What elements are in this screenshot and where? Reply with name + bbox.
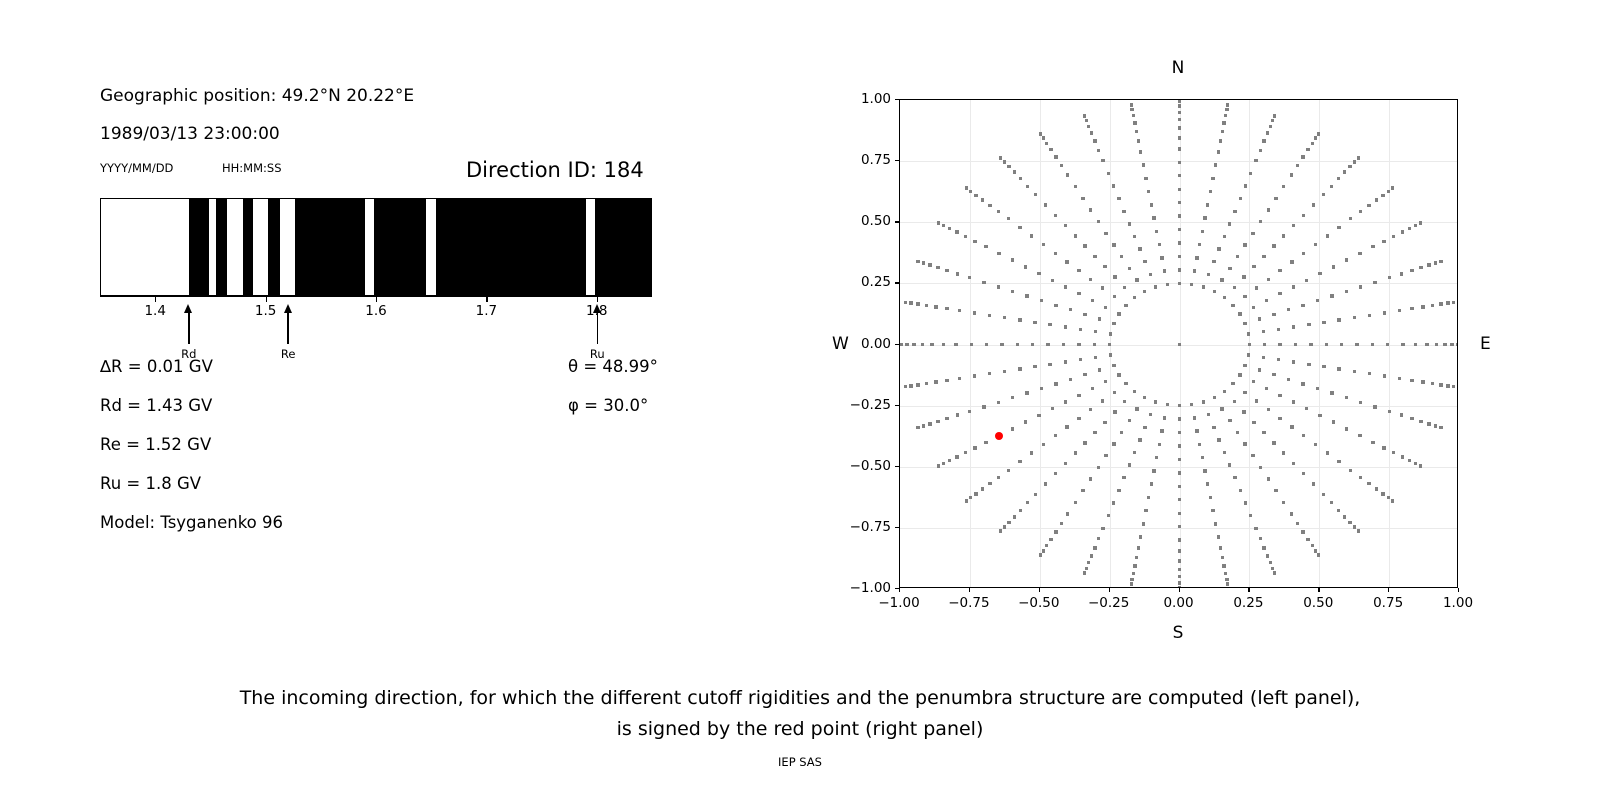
direction-point — [1252, 421, 1255, 424]
direction-point — [1178, 147, 1181, 150]
direction-point — [1452, 385, 1455, 388]
direction-point — [1089, 278, 1092, 281]
direction-point — [1137, 139, 1140, 142]
direction-point — [1064, 285, 1067, 288]
direction-point — [1104, 306, 1107, 309]
direction-point — [930, 343, 933, 346]
direction-point — [1272, 313, 1275, 316]
direction-point — [1060, 522, 1063, 525]
direction-point — [1202, 400, 1205, 403]
direction-point — [997, 252, 1000, 255]
direction-point — [1292, 285, 1295, 288]
direction-point — [1371, 343, 1374, 346]
direction-point — [1178, 282, 1181, 285]
direction-point — [1410, 307, 1413, 310]
direction-point — [1142, 163, 1145, 166]
direction-point — [900, 343, 903, 346]
direction-point — [1213, 290, 1216, 293]
direction-point — [1282, 501, 1285, 504]
axis-tick-label: 1.4 — [144, 303, 165, 319]
direction-point — [981, 198, 984, 201]
direction-point — [955, 455, 958, 458]
direction-point — [1090, 554, 1093, 557]
selected-direction-marker[interactable] — [995, 432, 1003, 440]
direction-point — [1178, 174, 1181, 177]
direction-point — [1211, 509, 1214, 512]
direction-point — [928, 263, 931, 266]
direction-grid-plot — [899, 99, 1458, 588]
direction-point — [1104, 380, 1107, 383]
direction-point — [1018, 367, 1021, 370]
direction-point — [1337, 460, 1340, 463]
direction-point — [1392, 451, 1395, 454]
direction-point — [1135, 407, 1138, 410]
direction-point — [1228, 267, 1231, 270]
direction-point — [1054, 252, 1057, 255]
direction-point — [1093, 139, 1096, 142]
direction-point — [1166, 283, 1169, 286]
direction-point — [1054, 530, 1057, 533]
direction-point — [1271, 119, 1274, 122]
direction-point — [1296, 164, 1299, 167]
date-format-hint: YYYY/MM/DD — [100, 161, 173, 175]
right-panel: N S W E −1.00−0.75−0.50−0.250.000.250.50… — [800, 0, 1600, 660]
direction-point — [1133, 235, 1136, 238]
direction-point — [1309, 343, 1312, 346]
direction-point — [1143, 426, 1146, 429]
direction-point — [1097, 466, 1100, 469]
direction-point — [1166, 403, 1169, 406]
direction-point — [1128, 267, 1131, 270]
direction-point — [1193, 416, 1196, 419]
direction-point — [1278, 343, 1281, 346]
penumbra-axis: 1.41.51.61.71.8 — [100, 296, 652, 306]
direction-point — [1223, 235, 1226, 238]
direction-point — [1085, 567, 1088, 570]
direction-point — [1242, 275, 1245, 278]
y-axis-tick — [895, 466, 899, 467]
direction-point — [973, 374, 976, 377]
y-axis-tick — [895, 282, 899, 283]
compass-east-label: E — [1480, 334, 1491, 354]
direction-point — [1039, 132, 1042, 135]
direction-point — [1190, 403, 1193, 406]
direction-point — [1446, 384, 1449, 387]
arrow-shaft — [188, 312, 189, 344]
direction-point — [1249, 514, 1252, 517]
direction-point — [1133, 121, 1136, 124]
direction-point — [1103, 265, 1106, 268]
direction-point — [1117, 489, 1120, 492]
direction-point — [1003, 370, 1006, 373]
direction-point — [997, 476, 1000, 479]
direction-point — [1434, 261, 1437, 264]
direction-point — [937, 221, 940, 224]
param-re: Re = 1.52 GV — [100, 435, 211, 454]
direction-point — [954, 343, 957, 346]
direction-point — [964, 451, 967, 454]
direction-point — [1359, 476, 1362, 479]
y-axis-tick — [895, 527, 899, 528]
direction-point — [1243, 391, 1246, 394]
x-axis-tick — [1318, 588, 1319, 592]
direction-point — [1225, 578, 1228, 581]
direction-point — [1348, 165, 1351, 168]
direction-point — [1124, 382, 1127, 385]
direction-point — [1228, 222, 1231, 225]
direction-point — [1223, 296, 1226, 299]
penumbra-forbidden-band — [595, 198, 652, 296]
direction-point — [1343, 515, 1346, 518]
direction-point — [1371, 245, 1374, 248]
direction-point — [1353, 316, 1356, 319]
direction-point — [1301, 382, 1304, 385]
direction-point — [1301, 155, 1304, 158]
footer-credit: IEP SAS — [0, 755, 1600, 769]
gridline-vertical — [1040, 100, 1041, 587]
gridline-vertical — [1319, 100, 1320, 587]
direction-point — [969, 496, 972, 499]
direction-point — [1337, 318, 1340, 321]
direction-point — [1238, 373, 1241, 376]
direction-point — [1000, 343, 1003, 346]
direction-point — [1273, 571, 1276, 574]
direction-point — [968, 276, 971, 279]
direction-point — [1034, 493, 1037, 496]
direction-point — [982, 281, 985, 284]
direction-point — [1195, 429, 1198, 432]
direction-point — [1401, 343, 1404, 346]
direction-point — [1064, 400, 1067, 403]
direction-point — [1048, 363, 1051, 366]
direction-point — [1446, 301, 1449, 304]
direction-point — [1122, 476, 1125, 479]
y-axis-tick — [895, 160, 899, 161]
y-axis-tick — [895, 405, 899, 406]
direction-point — [1290, 260, 1293, 263]
direction-point — [1222, 121, 1225, 124]
direction-point — [1143, 290, 1146, 293]
direction-point — [1287, 378, 1290, 381]
direction-point — [1217, 535, 1220, 538]
direction-point — [1093, 431, 1096, 434]
direction-point — [1311, 544, 1314, 547]
direction-point — [1419, 420, 1422, 423]
direction-point — [1391, 499, 1394, 502]
direction-point — [1054, 155, 1057, 158]
direction-point — [1258, 317, 1261, 320]
direction-point — [1224, 114, 1227, 117]
direction-point — [1178, 525, 1181, 528]
direction-point — [1112, 243, 1115, 246]
direction-point — [1220, 278, 1223, 281]
direction-point — [1419, 464, 1422, 467]
direction-point — [1135, 278, 1138, 281]
direction-point — [999, 156, 1002, 159]
direction-point — [1243, 322, 1246, 325]
direction-point — [1178, 201, 1181, 204]
direction-point — [1312, 203, 1315, 206]
direction-point — [1439, 426, 1442, 429]
x-axis-tick-label: −0.75 — [948, 595, 989, 611]
direction-point — [1065, 425, 1068, 428]
direction-point — [1003, 525, 1006, 528]
direction-point — [1066, 512, 1069, 515]
direction-point — [1101, 286, 1104, 289]
direction-point — [1337, 509, 1340, 512]
direction-point — [1206, 482, 1209, 485]
direction-point — [1387, 190, 1390, 193]
direction-point — [1359, 210, 1362, 213]
direction-point — [955, 230, 958, 233]
direction-point — [1018, 460, 1021, 463]
direction-point — [1322, 365, 1325, 368]
direction-point — [909, 384, 912, 387]
direction-point — [1133, 296, 1136, 299]
direction-point — [1292, 224, 1295, 227]
direction-point — [1103, 421, 1106, 424]
direction-point — [1265, 387, 1268, 390]
direction-point — [1382, 240, 1385, 243]
direction-point — [1217, 150, 1220, 153]
direction-point — [1098, 368, 1101, 371]
compass-south-label: S — [1173, 623, 1184, 643]
direction-point — [1093, 343, 1096, 346]
direction-point — [1049, 538, 1052, 541]
direction-point — [973, 446, 976, 449]
direction-point — [1307, 323, 1310, 326]
direction-point — [1155, 456, 1158, 459]
direction-point — [1262, 330, 1265, 333]
direction-point — [1143, 396, 1146, 399]
direction-point — [1236, 431, 1239, 434]
direction-point — [1388, 410, 1391, 413]
direction-point — [1265, 299, 1268, 302]
penumbra-figure: 1.41.51.61.71.8 RdReRu — [100, 198, 652, 296]
direction-point — [1254, 159, 1257, 162]
direction-point — [1074, 501, 1077, 504]
direction-point — [1203, 469, 1206, 472]
direction-point — [1178, 104, 1181, 107]
direction-point — [956, 272, 959, 275]
direction-point — [1109, 332, 1112, 335]
direction-point — [1267, 208, 1270, 211]
direction-point — [1083, 373, 1086, 376]
x-axis-tick-label: −0.25 — [1088, 595, 1129, 611]
direction-point — [948, 227, 951, 230]
arrow-shaft — [597, 312, 598, 344]
direction-point — [1042, 443, 1045, 446]
param-delta-r: ∆R = 0.01 GV — [100, 357, 213, 376]
direction-point — [1083, 441, 1086, 444]
direction-point — [1025, 391, 1028, 394]
direction-point — [1135, 556, 1138, 559]
direction-point — [1439, 302, 1442, 305]
direction-point — [1044, 482, 1047, 485]
direction-point — [1349, 217, 1352, 220]
direction-point — [1243, 295, 1246, 298]
direction-point — [1252, 380, 1255, 383]
direction-point — [969, 190, 972, 193]
direction-point — [1081, 489, 1084, 492]
direction-point — [1098, 317, 1101, 320]
direction-point — [1018, 318, 1021, 321]
direction-point — [1306, 148, 1309, 151]
param-theta: θ = 48.99° — [568, 357, 658, 376]
direction-point — [1178, 228, 1181, 231]
direction-point — [1049, 148, 1052, 151]
direction-point — [1220, 407, 1223, 410]
direction-point — [1054, 214, 1057, 217]
direction-point — [1262, 356, 1265, 359]
direction-point — [1120, 255, 1123, 258]
direction-point — [1221, 556, 1224, 559]
direction-point — [1201, 456, 1204, 459]
direction-point — [1410, 417, 1413, 420]
direction-point — [1317, 132, 1320, 135]
direction-point — [1101, 527, 1104, 530]
direction-point — [1274, 489, 1277, 492]
direction-point — [1007, 469, 1010, 472]
direction-point — [1077, 394, 1080, 397]
direction-point — [982, 405, 985, 408]
direction-point — [1296, 522, 1299, 525]
direction-point — [1054, 434, 1057, 437]
axis-tick — [155, 296, 156, 302]
direction-point — [1292, 325, 1295, 328]
direction-point — [942, 224, 945, 227]
direction-point — [928, 422, 931, 425]
direction-point — [1353, 370, 1356, 373]
axis-tick — [376, 296, 377, 302]
direction-point — [1090, 131, 1093, 134]
direction-point — [1367, 204, 1370, 207]
param-ru: Ru = 1.8 GV — [100, 474, 201, 493]
direction-point — [1355, 343, 1358, 346]
direction-point — [1046, 343, 1049, 346]
penumbra-forbidden-band — [436, 198, 586, 296]
direction-point — [1330, 294, 1333, 297]
direction-point — [974, 492, 977, 495]
x-axis-tick-label: −1.00 — [878, 595, 919, 611]
arrow-shaft — [287, 312, 288, 344]
direction-point — [956, 413, 959, 416]
direction-point — [1077, 292, 1080, 295]
direction-point — [1401, 455, 1404, 458]
direction-point — [1178, 581, 1181, 584]
direction-point — [1011, 290, 1014, 293]
direction-point — [1132, 114, 1135, 117]
direction-point — [973, 311, 976, 314]
direction-point — [904, 385, 907, 388]
direction-point — [1278, 417, 1281, 420]
direction-point — [1214, 163, 1217, 166]
direction-point — [1343, 170, 1346, 173]
direction-point — [1292, 400, 1295, 403]
direction-point — [1373, 281, 1376, 284]
direction-point — [1431, 382, 1434, 385]
direction-point — [1322, 193, 1325, 196]
direction-point — [1112, 501, 1115, 504]
direction-point — [916, 426, 919, 429]
direction-point — [1239, 489, 1242, 492]
direction-point — [1238, 312, 1241, 315]
rigidity-marker-label: Re — [281, 347, 296, 361]
direction-point — [968, 410, 971, 413]
x-axis-tick — [969, 588, 970, 592]
direction-point — [1450, 343, 1453, 346]
direction-point — [1340, 343, 1343, 346]
direction-point — [1155, 230, 1158, 233]
direction-point — [1353, 160, 1356, 163]
direction-point — [1371, 441, 1374, 444]
direction-point — [1083, 313, 1086, 316]
direction-point — [1007, 521, 1010, 524]
direction-point — [1330, 501, 1333, 504]
direction-point — [1307, 363, 1310, 366]
direction-point — [1117, 312, 1120, 315]
direction-point — [997, 210, 1000, 213]
x-axis-tick — [1109, 588, 1110, 592]
compass-north-label: N — [1172, 58, 1185, 78]
direction-point — [1201, 230, 1204, 233]
direction-point — [1223, 390, 1226, 393]
direction-point — [1037, 414, 1040, 417]
direction-point — [1054, 382, 1057, 385]
direction-point — [1306, 538, 1309, 541]
direction-point — [1013, 170, 1016, 173]
direction-point — [1381, 492, 1384, 495]
direction-point — [1239, 197, 1242, 200]
direction-point — [1272, 441, 1275, 444]
direction-point — [1026, 501, 1029, 504]
direction-point — [1427, 263, 1430, 266]
direction-point — [1251, 232, 1254, 235]
direction-point — [1332, 420, 1335, 423]
penumbra-forbidden-band — [374, 198, 426, 296]
direction-point — [1345, 427, 1348, 430]
direction-point — [964, 235, 967, 238]
direction-point — [922, 424, 925, 427]
x-axis-tick — [899, 588, 900, 592]
direction-point — [1314, 549, 1317, 552]
y-axis-tick-label: −1.00 — [837, 580, 891, 596]
direction-point — [1278, 269, 1281, 272]
y-axis-tick-label: 0.00 — [837, 336, 891, 352]
direction-point — [1133, 451, 1136, 454]
direction-point — [997, 285, 1000, 288]
direction-point — [1386, 343, 1389, 346]
direction-point — [1302, 214, 1305, 217]
direction-point — [1282, 185, 1285, 188]
direction-point — [1178, 498, 1181, 501]
direction-point — [1282, 234, 1285, 237]
direction-point — [1322, 493, 1325, 496]
direction-point — [936, 420, 939, 423]
x-axis-tick — [1039, 588, 1040, 592]
direction-point — [1217, 438, 1220, 441]
direction-point — [1443, 343, 1446, 346]
direction-point — [988, 204, 991, 207]
direction-point — [1062, 343, 1065, 346]
direction-point — [1163, 416, 1166, 419]
direction-point — [1147, 190, 1150, 193]
direction-point — [1079, 358, 1082, 361]
direction-point — [988, 314, 991, 317]
direction-point — [984, 441, 987, 444]
direction-point — [1178, 118, 1181, 121]
direction-point — [1178, 126, 1181, 129]
